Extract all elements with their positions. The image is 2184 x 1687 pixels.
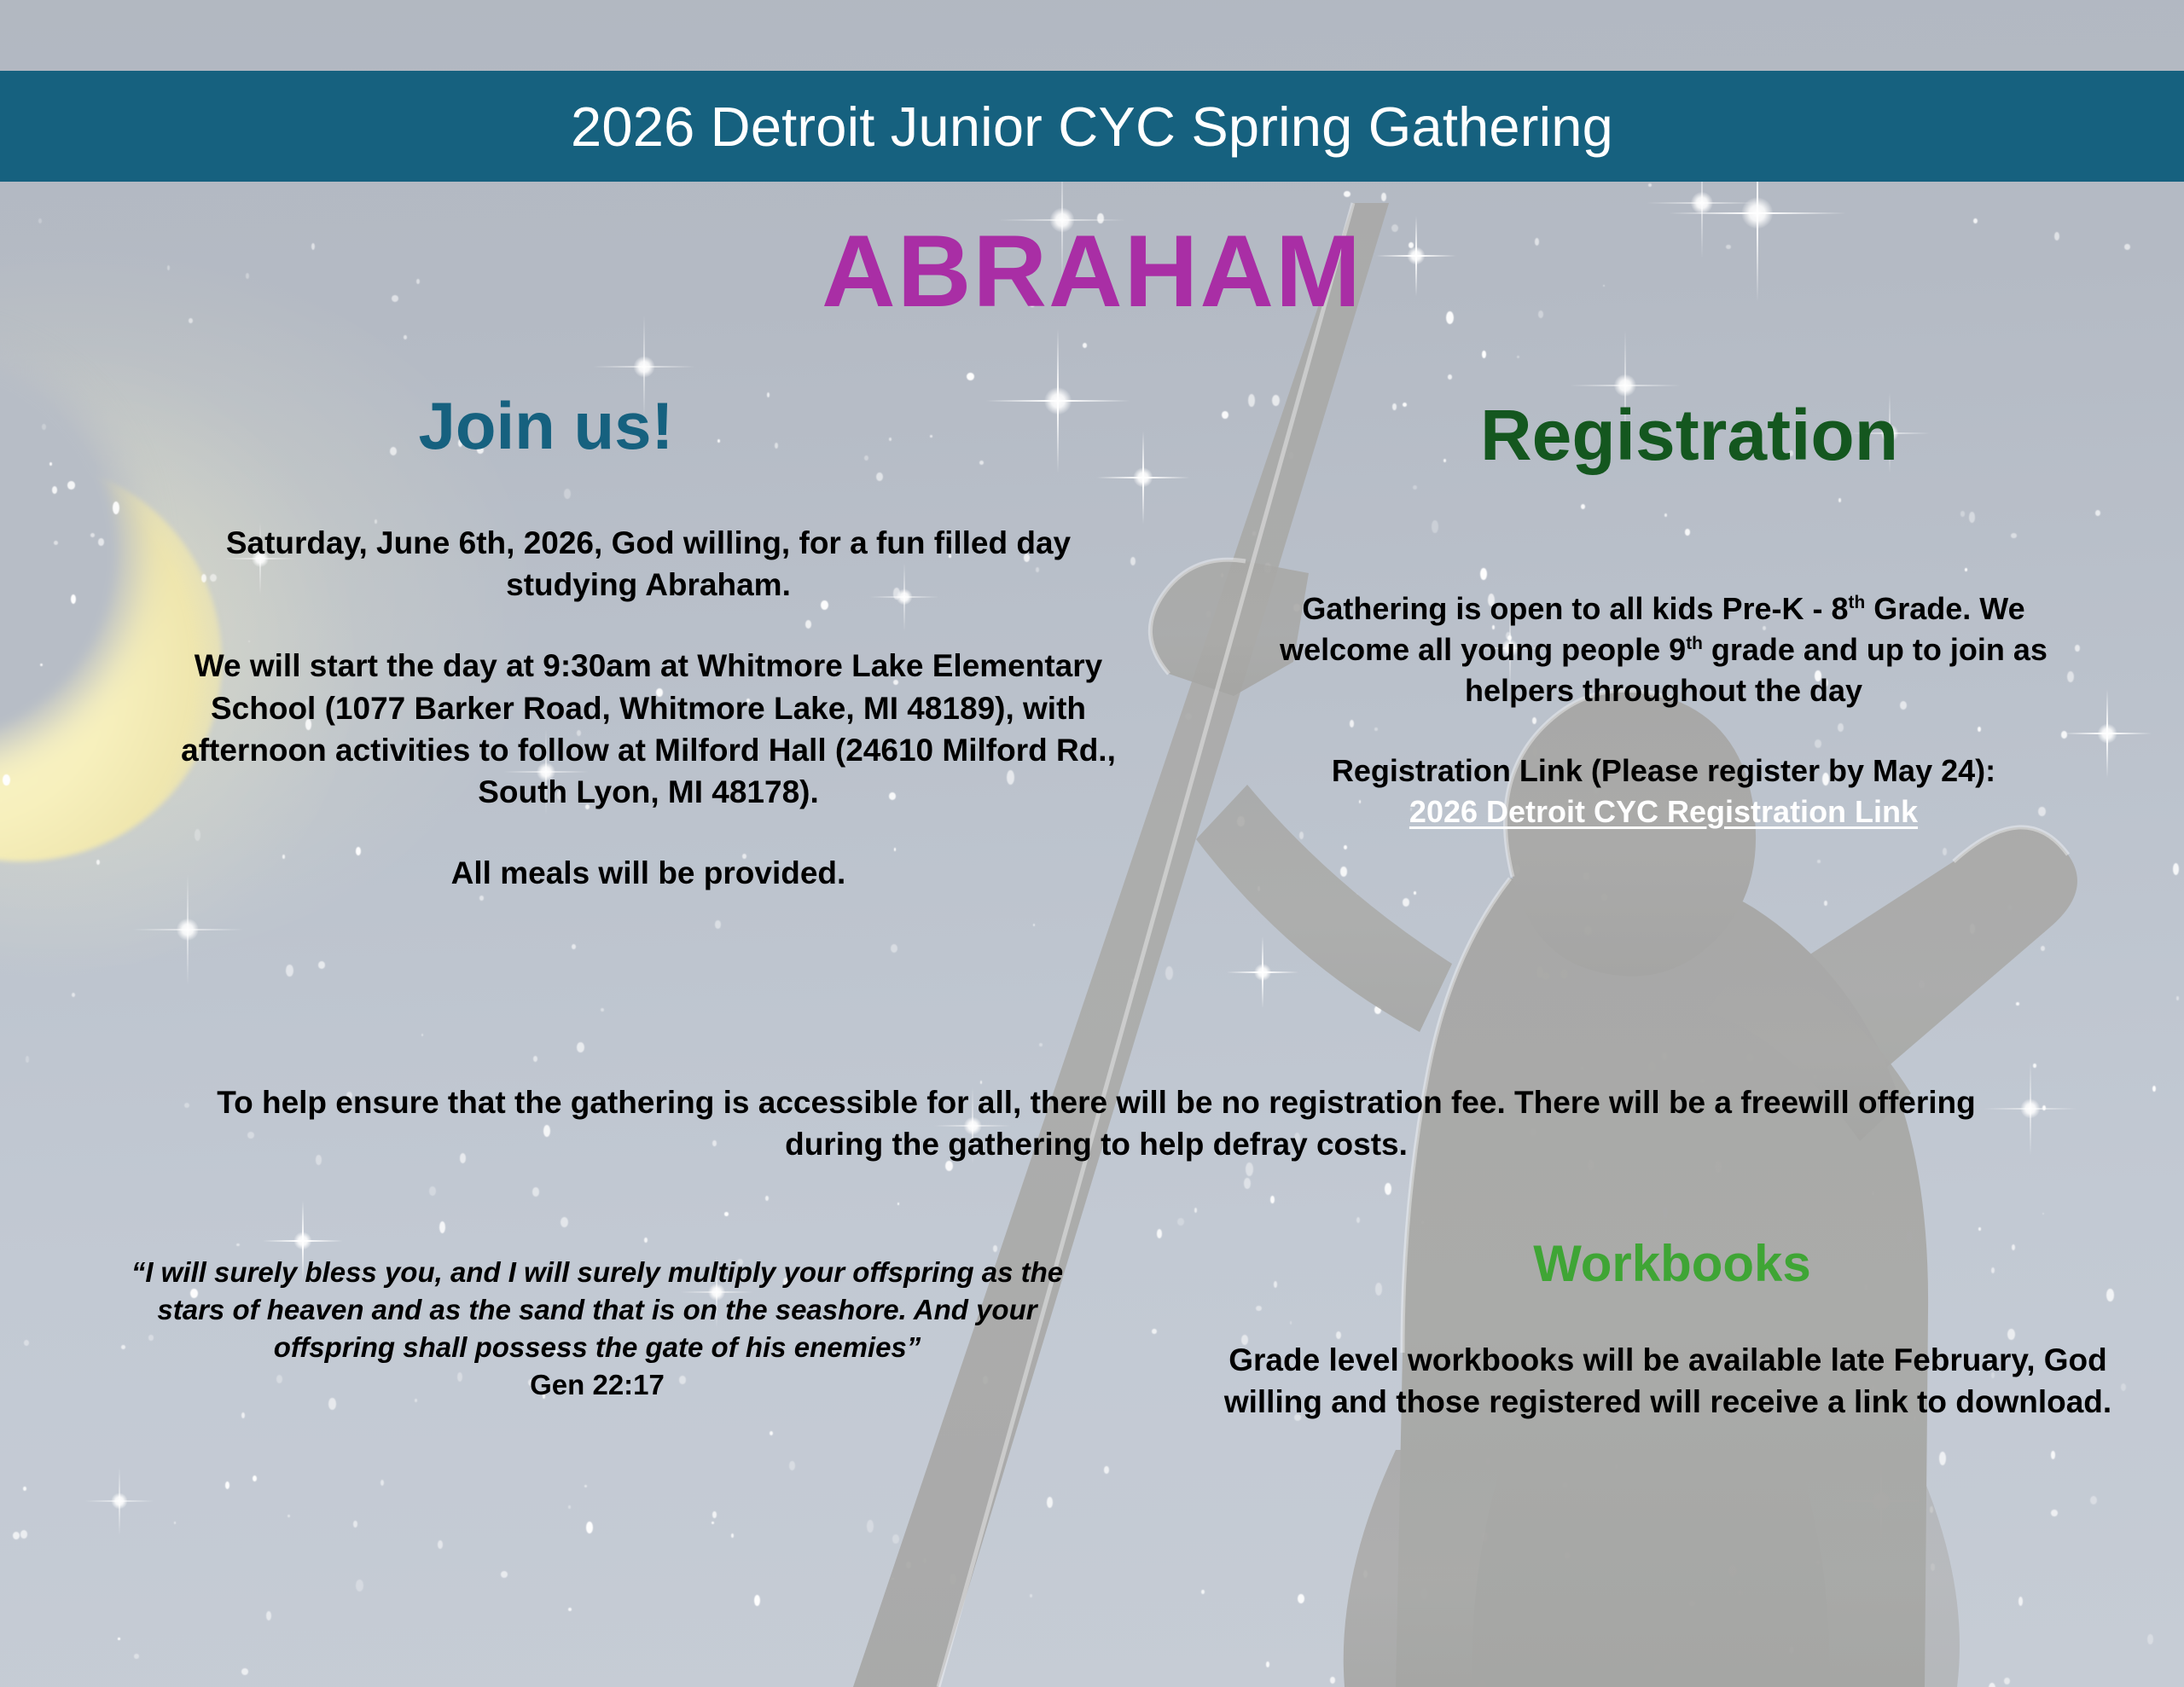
workbooks-body: Grade level workbooks will be available … — [1220, 1339, 2116, 1423]
registration-link-intro: Registration Link (Please register by Ma… — [1332, 753, 1995, 788]
join-us-paragraph-3: All meals will be provided. — [171, 852, 1126, 894]
registration-body: Gathering is open to all kids Pre-K - 8t… — [1237, 588, 2090, 832]
workbooks-heading: Workbooks — [1331, 1238, 2013, 1290]
eligibility-text-1: Gathering is open to all kids Pre-K - 8 — [1302, 591, 1848, 626]
scripture-quote: “I will surely bless you, and I will sur… — [128, 1254, 1066, 1404]
title-banner: 2026 Detroit Junior CYC Spring Gathering — [0, 71, 2184, 182]
registration-heading: Registration — [1314, 399, 2065, 471]
eligibility-superscript-1: th — [1849, 593, 1866, 612]
scripture-reference: Gen 22:17 — [128, 1366, 1066, 1404]
workbooks-text: Grade level workbooks will be available … — [1220, 1339, 2116, 1423]
join-us-paragraph-1: Saturday, June 6th, 2026, God willing, f… — [171, 522, 1126, 606]
banner-title: 2026 Detroit Junior CYC Spring Gathering — [571, 95, 1613, 159]
registration-link[interactable]: 2026 Detroit CYC Registration Link — [1409, 794, 1918, 829]
join-us-paragraph-2: We will start the day at 9:30am at Whitm… — [171, 645, 1126, 813]
registration-link-block: Registration Link (Please register by Ma… — [1237, 751, 2090, 832]
eligibility-superscript-2: th — [1686, 634, 1703, 653]
fee-note-text: To help ensure that the gathering is acc… — [171, 1081, 2022, 1165]
poster-canvas: 2026 Detroit Junior CYC Spring Gathering… — [0, 0, 2184, 1687]
registration-eligibility: Gathering is open to all kids Pre-K - 8t… — [1237, 588, 2090, 711]
join-us-body: Saturday, June 6th, 2026, God willing, f… — [171, 522, 1126, 894]
join-us-heading: Join us! — [256, 392, 836, 459]
page-title: ABRAHAM — [0, 220, 2184, 322]
scripture-verse: “I will surely bless you, and I will sur… — [128, 1254, 1066, 1366]
fee-note: To help ensure that the gathering is acc… — [171, 1081, 2022, 1165]
